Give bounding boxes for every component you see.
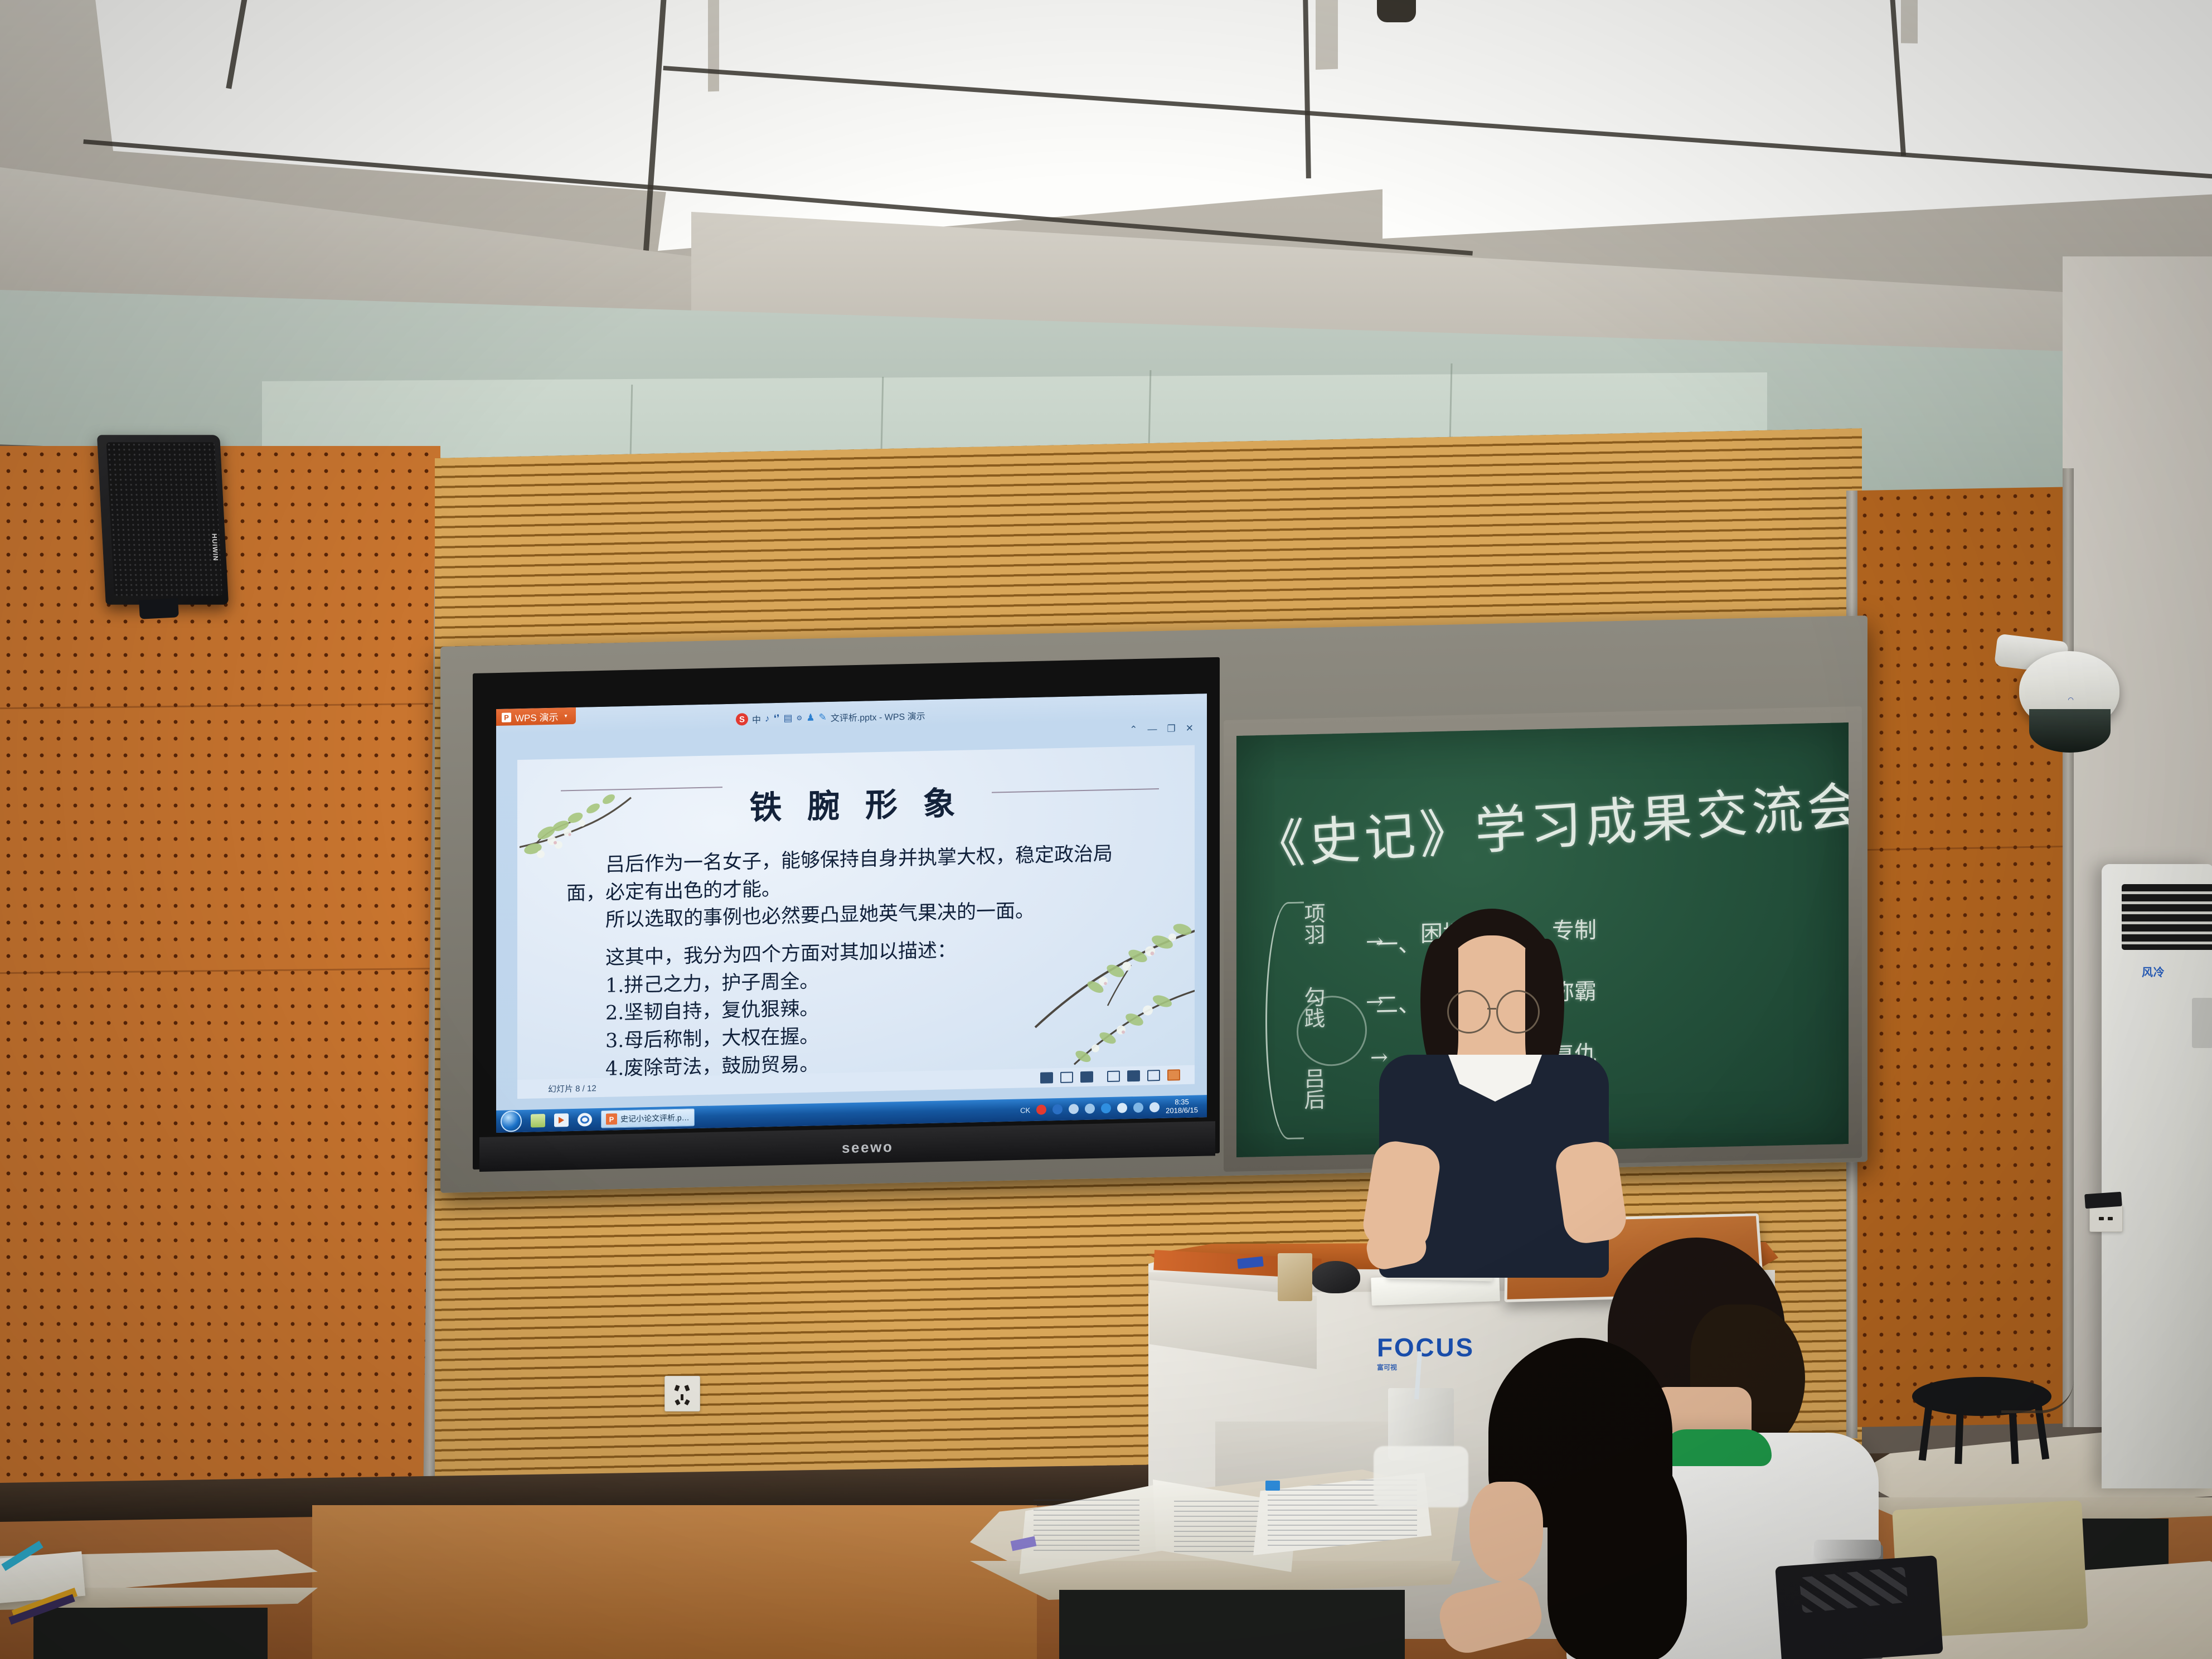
ime-settings-icon[interactable]: ⚙ (797, 714, 803, 722)
ime-tone-icon[interactable]: ♪ (765, 713, 770, 724)
tray-text-label: CK (1020, 1106, 1030, 1114)
slide-counter: 幻灯片 8 / 12 (548, 1082, 596, 1095)
presenter-glasses-bridge (1487, 1008, 1496, 1010)
folder-icon[interactable] (531, 1114, 545, 1128)
ime-toolbox-icon[interactable]: ♟ (806, 712, 814, 724)
taskbar-clock[interactable]: 8:35 2018/6/15 (1166, 1098, 1201, 1115)
wps-presentation-icon: P (606, 1113, 617, 1124)
wps-tab-label: WPS 演示 (515, 709, 558, 724)
wps-window: P WPS 演示 ▾ S 中 ♪ ❛❜ ▤ ⚙ ♟ ✎ 文评析.pptx - W… (496, 693, 1207, 1133)
system-tray[interactable]: CK 8:35 2018/6/15 (1020, 1098, 1207, 1118)
media-player-icon[interactable] (554, 1113, 569, 1127)
reading-view-icon[interactable] (1147, 1070, 1160, 1081)
air-conditioner[interactable] (2102, 864, 2212, 1488)
sogou-icon[interactable] (1036, 1104, 1046, 1114)
sorter-view-icon[interactable] (1127, 1070, 1140, 1082)
window-controls[interactable]: ⌃ — ❐ ✕ (1129, 723, 1194, 736)
desk-leg (1059, 1590, 1405, 1659)
wall-socket[interactable] (2089, 1205, 2123, 1232)
air-conditioner-logo: 风冷 (2142, 963, 2165, 979)
student-hand (1434, 1574, 1546, 1658)
ime-skin-icon[interactable]: ✎ (819, 712, 827, 723)
student-center (1416, 1338, 1773, 1659)
computer-mouse[interactable] (1311, 1261, 1360, 1293)
binder-clip (1265, 1481, 1280, 1491)
sogou-ime-icon[interactable]: S (736, 713, 748, 725)
restore-ribbon-icon[interactable]: ⌃ (1129, 724, 1137, 735)
help-icon[interactable] (1052, 1104, 1063, 1114)
ime-punct-icon[interactable]: ❛❜ (774, 713, 780, 724)
student-ponytail (1548, 1438, 1687, 1659)
camera-lens (2029, 709, 2111, 753)
chalkboard-left-item: 项羽 (1298, 902, 1328, 945)
chalk-holder[interactable] (1278, 1253, 1312, 1301)
action-center-icon[interactable] (1149, 1102, 1160, 1112)
outline-view-icon[interactable] (1107, 1071, 1120, 1083)
windows-start-orb-icon[interactable] (501, 1110, 522, 1132)
speaker-mesh (106, 442, 223, 596)
wps-window-title: 文评析.pptx - WPS 演示 (831, 709, 925, 724)
slide-body: 吕后作为一名女子，能够保持自身并执掌大权，稳定政治局面，必定有出色的才能。 所以… (566, 840, 1151, 1084)
browser-icon[interactable] (578, 1113, 592, 1127)
chalkboard-left-item: 吕后 (1298, 1067, 1328, 1110)
panel-divider (2063, 468, 2074, 1427)
book-text-lines (1034, 1500, 1139, 1552)
ime-mode-label[interactable]: 中 (752, 712, 761, 726)
smartboard-brand-label: seewo (842, 1138, 894, 1157)
taskbar-window-label: 史记小论文评析.p… (620, 1112, 690, 1124)
student-face (1469, 1482, 1543, 1582)
smartboard-screen[interactable]: P WPS 演示 ▾ S 中 ♪ ❛❜ ▤ ⚙ ♟ ✎ 文评析.pptx - W… (496, 693, 1207, 1133)
volume-icon[interactable] (1117, 1103, 1127, 1113)
next-slide-icon[interactable] (1080, 1071, 1093, 1083)
slide-view-icon[interactable] (1060, 1071, 1073, 1083)
network-icon[interactable] (1085, 1104, 1095, 1114)
chalkboard-heading: 《史记》学习成果交流会 (1252, 764, 1849, 879)
classroom-scene: HUIWIN ◠ P WPS 演示 ▾ S 中 ♪ ❛❜ (0, 0, 2212, 1659)
slideshow-icon[interactable] (1167, 1069, 1180, 1081)
bluetooth-icon[interactable] (1101, 1103, 1111, 1113)
acoustic-panel-left (0, 446, 440, 1539)
thermos-cap (1814, 1540, 1881, 1559)
prev-slide-icon[interactable] (1040, 1072, 1053, 1084)
clock-date: 2018/6/15 (1166, 1107, 1198, 1115)
presenter (1349, 909, 1639, 1265)
presenter-glasses-right (1496, 990, 1540, 1034)
stool-leg (1954, 1409, 1963, 1464)
power-plug (2084, 1192, 2122, 1209)
wall-speaker: HUIWIN (97, 435, 229, 605)
minimize-icon[interactable]: — (1148, 724, 1157, 735)
presentation-slide[interactable]: 铁 腕 形 象 吕后作为一名女子，能够保持自身并执掌大权，稳定政治局面，必定有出… (517, 745, 1195, 1099)
desk-leg (33, 1608, 268, 1659)
battery-icon[interactable] (1069, 1104, 1079, 1114)
ime-toolbar[interactable]: S 中 ♪ ❛❜ ▤ ⚙ ♟ ✎ 文评析.pptx - WPS 演示 (736, 709, 925, 726)
wood-floor-area (312, 1505, 1037, 1659)
ime-keyboard-icon[interactable]: ▤ (783, 712, 792, 724)
wps-app-tab[interactable]: P WPS 演示 ▾ (496, 707, 576, 726)
presenter-glasses-left (1447, 990, 1491, 1034)
wall-socket[interactable] (664, 1376, 700, 1411)
chevron-down-icon[interactable]: ▾ (564, 713, 567, 719)
wps-presentation-icon: P (502, 712, 511, 722)
stool-leg (2009, 1408, 2019, 1464)
ceiling-projector-mount (1377, 0, 1416, 22)
sync-icon[interactable] (1133, 1103, 1143, 1113)
view-mode-icons[interactable] (1040, 1069, 1180, 1083)
air-conditioner-vents (2122, 884, 2212, 950)
taskbar-window-button[interactable]: P 史记小论文评析.p… (601, 1108, 695, 1128)
slide-title: 铁 腕 形 象 (517, 772, 1195, 834)
maximize-icon[interactable]: ❐ (1167, 723, 1176, 734)
close-icon[interactable]: ✕ (1186, 723, 1194, 734)
speaker-brand-label: HUIWIN (210, 533, 220, 561)
air-conditioner-display (2192, 998, 2212, 1048)
camera-brand-logo: ◠ (2068, 696, 2073, 704)
speaker-bracket (139, 598, 179, 619)
